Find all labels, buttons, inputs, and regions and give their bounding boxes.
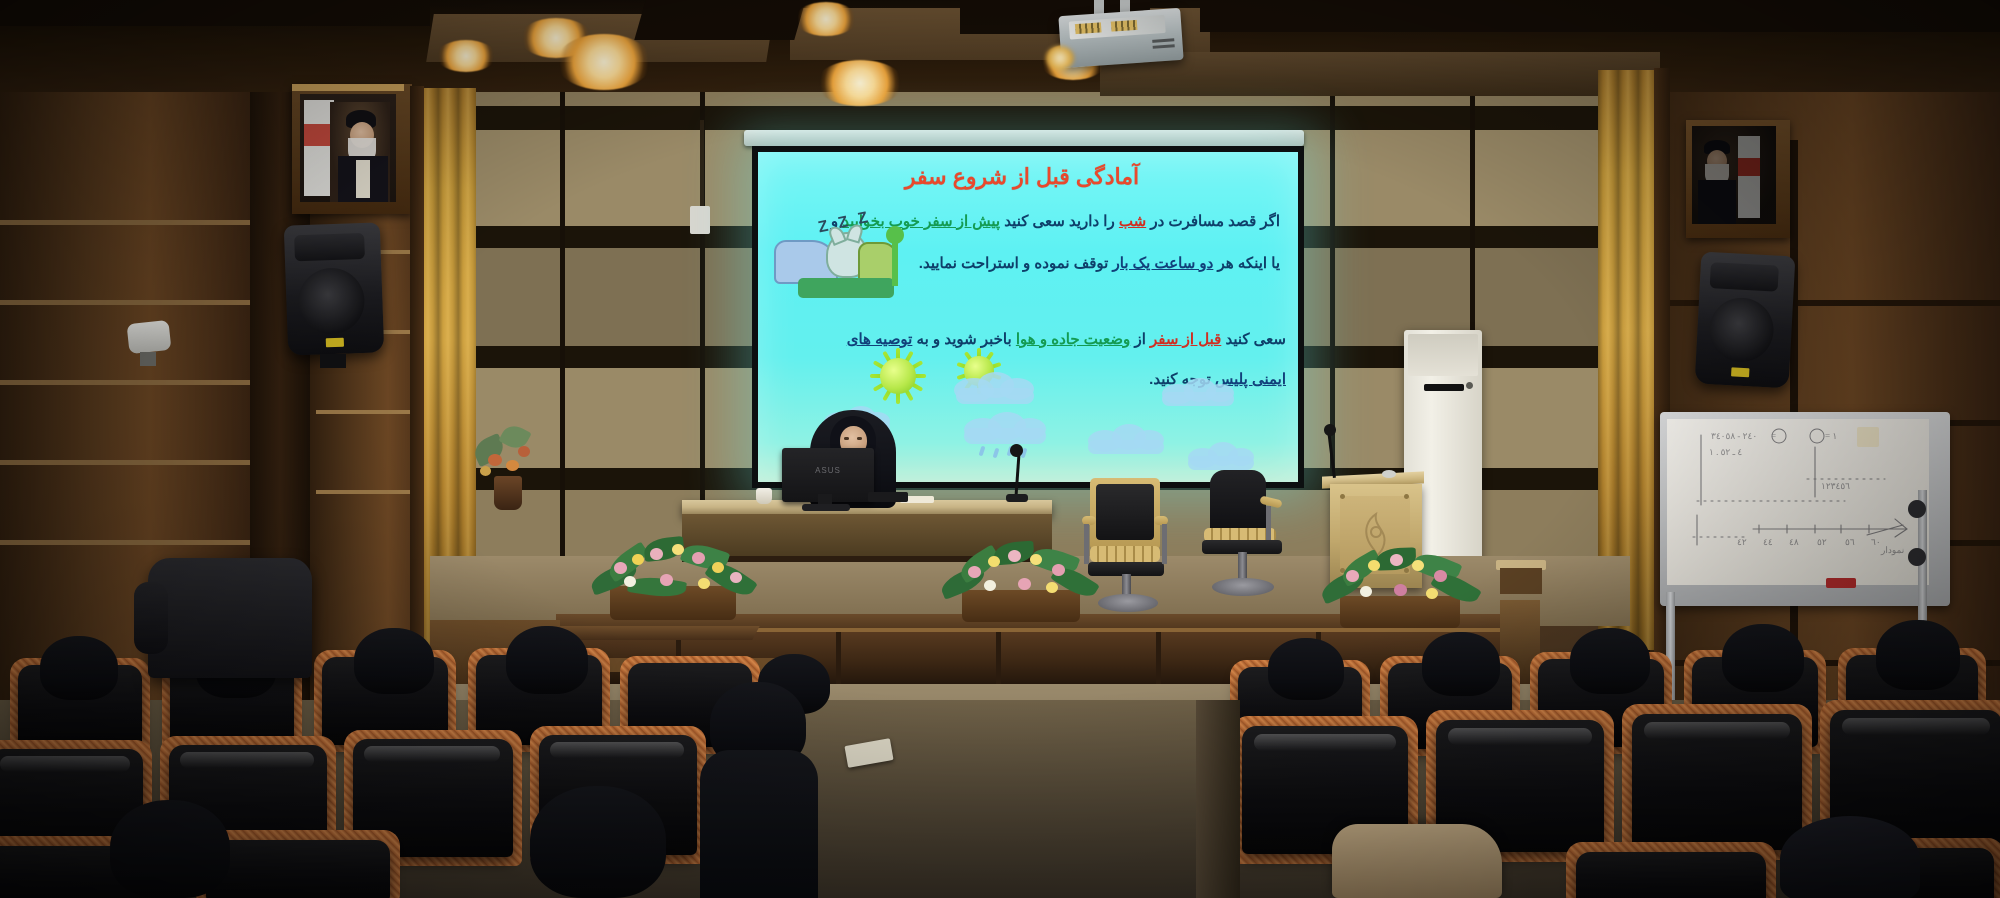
svg-text:٥٦: ٥٦ (1845, 537, 1855, 547)
sleeping-cat-illustration: Z Z Z (774, 214, 914, 310)
attendee-head (1876, 620, 1960, 690)
portrait-frame-khomeini (1686, 120, 1790, 238)
seat-front-row (1566, 842, 1776, 898)
p2l1-seg2: از (1130, 331, 1150, 348)
side-table-body (1500, 568, 1542, 594)
ceiling-light (795, 2, 857, 36)
sun-icon (870, 348, 926, 404)
whiteboard-marker-tray-item (1826, 578, 1856, 588)
flower-arrangement-left (588, 534, 756, 624)
slide-p2-line1: سعی کنید قبل از سفر از وضعیت جاده و هوا … (758, 330, 1286, 348)
attendee-head (1570, 628, 1650, 694)
hanging-tag (690, 206, 710, 234)
p1l1-seg2: را دارید سعی کنید (1000, 213, 1119, 230)
attendee-body (700, 750, 818, 898)
attendee-head (110, 800, 230, 898)
cloud-icon (1162, 376, 1238, 408)
cloud-icon (1188, 442, 1258, 472)
whiteboard-knob (1908, 548, 1926, 566)
aisle-divider (1196, 700, 1240, 898)
svg-text:= ١: = ١ (1825, 431, 1837, 441)
pa-speaker-left-bracket (320, 354, 346, 368)
cloud-icon (1088, 422, 1168, 456)
ceiling-light (436, 40, 496, 72)
p2l1-seg4: باخبر شوید و به (912, 331, 1015, 348)
svg-text:٤٨: ٤٨ (1789, 537, 1799, 547)
monitor-base (802, 504, 850, 511)
projector-mount (1094, 0, 1104, 14)
p1l2-seg2: توقف نموده و استراحت نمایید. (919, 255, 1113, 272)
side-armchair (148, 558, 312, 678)
p1l2-seg1: دو ساعت یک بار (1113, 255, 1214, 272)
podium-microphone-head (1324, 424, 1336, 436)
svg-text:٥٢: ٥٢ (1817, 537, 1827, 547)
svg-text:نمودار: نمودار (1880, 545, 1904, 556)
svg-text:١٢٣٤٥٦: ١٢٣٤٥٦ (1821, 481, 1850, 491)
desk-microphone-head (1010, 444, 1023, 457)
wall-camera (127, 320, 172, 354)
p2l1-seg5: توصیه های (847, 331, 913, 348)
p2l1-seg0: سعی کنید (1221, 331, 1286, 348)
slide-title: آمادگی قبل از شروع سفر (758, 164, 1286, 190)
seat-middle-row (1622, 704, 1812, 862)
attendee-head (354, 628, 434, 694)
screen-housing (744, 130, 1304, 146)
decorative-dried-flowers (470, 420, 540, 510)
projector-lens (1046, 46, 1074, 70)
ceiling-projector (1058, 8, 1183, 68)
attendee-head (530, 786, 666, 898)
attendee-head (506, 626, 588, 694)
flower-arrangement-right (1320, 546, 1480, 632)
side-armchair-arm (134, 582, 168, 654)
monitor-brand-label: ASUS (812, 466, 844, 475)
wall-camera-mount (140, 352, 156, 366)
pa-speaker-left (284, 222, 384, 355)
stage-chair-right (1200, 470, 1290, 610)
desk-cup (756, 488, 772, 504)
svg-text:٤ ـ ٥٢ . ١: ٤ ـ ٥٢ . ١ (1709, 447, 1742, 457)
svg-text:٢٤٠ - ٣٤٠٥٨: ٢٤٠ - ٣٤٠٥٨ (1711, 431, 1757, 441)
hanging-cable (700, 120, 704, 210)
attendee-head (1722, 624, 1804, 692)
p1l1-seg1: شب (1119, 213, 1146, 230)
attendee-head (1268, 638, 1344, 700)
ceiling-light (556, 34, 652, 90)
sun-behind-cloud-icon (948, 348, 1040, 412)
svg-text:٤٢: ٤٢ (1737, 537, 1747, 547)
whiteboard: ٢٤٠ - ٣٤٠٥٨ ٤ ـ ٥٢ . ١ = = ١ ٤٢ ٤٤ ٤٨ ٥٢… (1660, 412, 1950, 606)
whiteboard-diagram: ٢٤٠ - ٣٤٠٥٨ ٤ ـ ٥٢ . ١ = = ١ ٤٢ ٤٤ ٤٨ ٥٢… (1667, 419, 1929, 585)
pa-speaker-right (1695, 252, 1796, 389)
podium-item (1382, 470, 1396, 478)
p1l2-seg0: یا اینکه هر (1213, 255, 1280, 272)
attendee-head (40, 636, 118, 700)
p2l1-seg3: وضعیت جاده و هوا (1016, 331, 1130, 348)
desk-cables (868, 492, 908, 502)
desk-microphone-base (1006, 494, 1028, 502)
draped-coat (1332, 824, 1502, 898)
p1l1-seg0: اگر قصد مسافرت در (1146, 213, 1280, 230)
attendee-head (1422, 632, 1500, 696)
svg-text:٦٠: ٦٠ (1871, 537, 1881, 547)
attendee-head (1780, 816, 1920, 898)
stage-step (552, 626, 759, 640)
rain-cloud-icon (960, 410, 1052, 464)
auditorium-scene: آمادگی قبل از شروع سفر اگر قصد مسافرت در… (0, 0, 2000, 898)
whiteboard-knob (1908, 500, 1926, 518)
ceiling-light (816, 60, 904, 106)
svg-text:٤٤: ٤٤ (1763, 537, 1773, 547)
flower-arrangement-center (940, 540, 1100, 626)
portrait-frame-khamenei (292, 84, 412, 214)
p2l1-seg1: قبل از سفر (1150, 331, 1221, 348)
